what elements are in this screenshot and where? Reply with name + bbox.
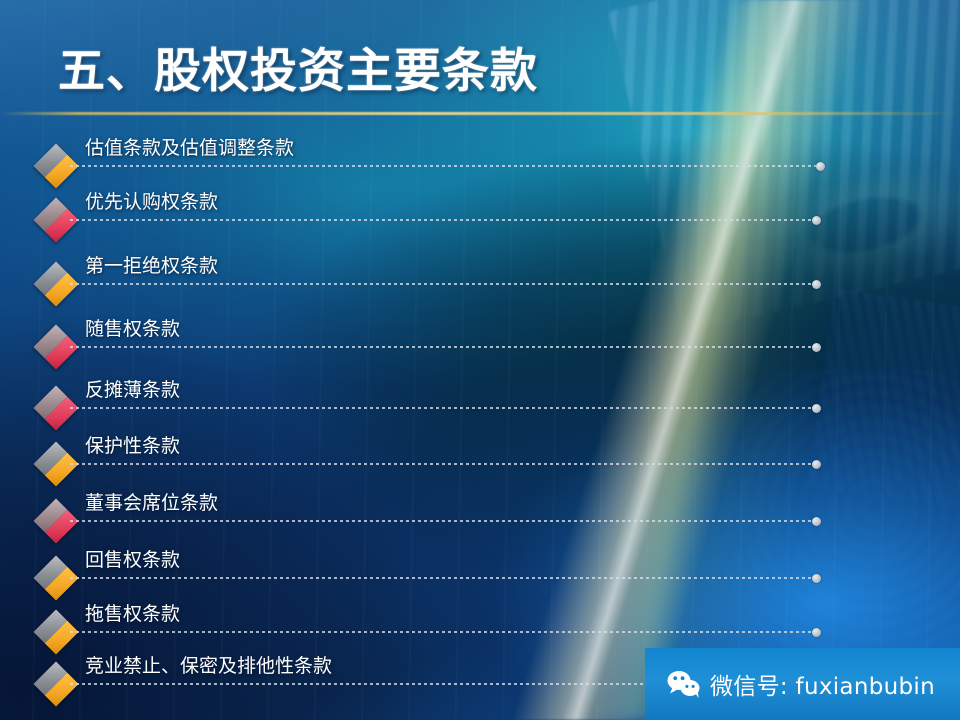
- connector-endpoint: [812, 460, 821, 469]
- list-item-label: 第一拒绝权条款: [85, 251, 218, 278]
- dotted-connector: [70, 283, 812, 285]
- connector-endpoint: [812, 343, 821, 352]
- connector-endpoint: [812, 574, 821, 583]
- connector-endpoint: [812, 517, 821, 526]
- connector-endpoint: [812, 628, 821, 637]
- list-item-label: 拖售权条款: [85, 599, 180, 626]
- list-item-label: 优先认购权条款: [85, 187, 218, 214]
- list-item-label: 反摊薄条款: [85, 375, 180, 402]
- connector-endpoint: [812, 216, 821, 225]
- watermark-text: 微信号: fuxianbubin: [710, 667, 935, 701]
- wechat-icon: [667, 670, 701, 698]
- list-item-label: 董事会席位条款: [85, 488, 218, 515]
- list-item-label: 保护性条款: [85, 431, 180, 458]
- list-item-label: 竞业禁止、保密及排他性条款: [85, 651, 332, 678]
- dotted-connector: [70, 463, 812, 465]
- slide-canvas: 五、股权投资主要条款 估值条款及估值调整条款优先认购权条款第一拒绝权条款随售权条…: [0, 0, 960, 720]
- list-item-label: 随售权条款: [85, 314, 180, 341]
- list-item-label: 估值条款及估值调整条款: [85, 133, 294, 160]
- watermark-bar: 微信号: fuxianbubin: [645, 648, 960, 720]
- dotted-connector: [70, 577, 812, 579]
- list-item-label: 回售权条款: [85, 545, 180, 572]
- dotted-connector: [70, 631, 812, 633]
- dotted-connector: [70, 219, 812, 221]
- dotted-connector: [70, 165, 816, 167]
- dotted-connector: [70, 346, 812, 348]
- connector-endpoint: [812, 404, 821, 413]
- connector-endpoint: [812, 280, 821, 289]
- dotted-connector: [70, 407, 812, 409]
- term-list: 估值条款及估值调整条款优先认购权条款第一拒绝权条款随售权条款反摊薄条款保护性条款…: [0, 0, 960, 720]
- dotted-connector: [70, 520, 812, 522]
- connector-endpoint: [816, 162, 825, 171]
